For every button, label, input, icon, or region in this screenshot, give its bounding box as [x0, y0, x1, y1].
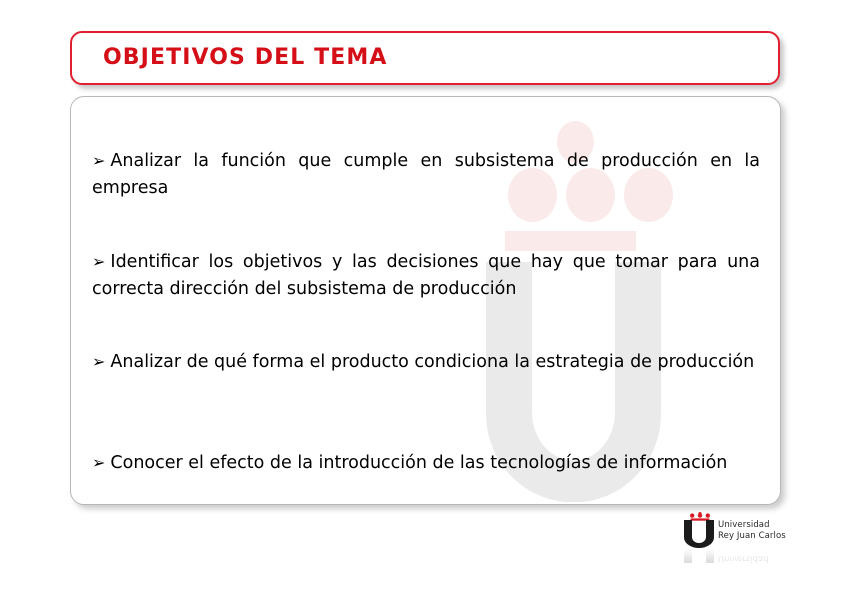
page-title: OBJETIVOS DEL TEMA — [103, 45, 387, 70]
slide-canvas: OBJETIVOS DEL TEMA ➢Analizar la función … — [0, 0, 848, 599]
list-item-text: Analizar la función que cumple en subsis… — [92, 151, 760, 198]
slide-title-box: OBJETIVOS DEL TEMA — [70, 31, 780, 85]
logo-reflection-line-1: Universidad — [718, 552, 784, 563]
bullet-arrow-icon: ➢ — [92, 151, 110, 170]
urjc-logo: Universidad Rey Juan Carlos Universidad … — [680, 512, 795, 562]
list-item: ➢Analizar de qué forma el producto condi… — [92, 348, 760, 376]
logo-line-2: Rey Juan Carlos — [718, 531, 786, 542]
logo-line-1: Universidad — [718, 520, 786, 531]
list-item: ➢Conocer el efecto de la introducción de… — [92, 449, 760, 477]
list-item-text: Analizar de qué forma el producto condic… — [110, 352, 754, 372]
slide-content-box: ➢Analizar la función que cumple en subsi… — [70, 96, 781, 505]
list-item-text: Identificar los objetivos y las decision… — [92, 252, 760, 299]
bullet-arrow-icon: ➢ — [92, 352, 110, 371]
list-item: ➢Analizar la función que cumple en subsi… — [92, 147, 760, 202]
logo-wordmark-reflection: Universidad Rey Juan Carlos — [718, 541, 784, 563]
objectives-list: ➢Analizar la función que cumple en subsi… — [71, 97, 780, 504]
list-item-text: Conocer el efecto de la introducción de … — [110, 453, 727, 473]
logo-wordmark: Universidad Rey Juan Carlos — [718, 520, 786, 542]
letter-u-icon — [684, 520, 714, 548]
list-item: ➢Identificar los objetivos y las decisio… — [92, 248, 760, 303]
bullet-arrow-icon: ➢ — [92, 252, 110, 271]
logo-reflection-line-2: Rey Juan Carlos — [718, 541, 784, 552]
bullet-arrow-icon: ➢ — [92, 453, 110, 472]
logo-reflection: Universidad Rey Juan Carlos — [684, 549, 784, 563]
